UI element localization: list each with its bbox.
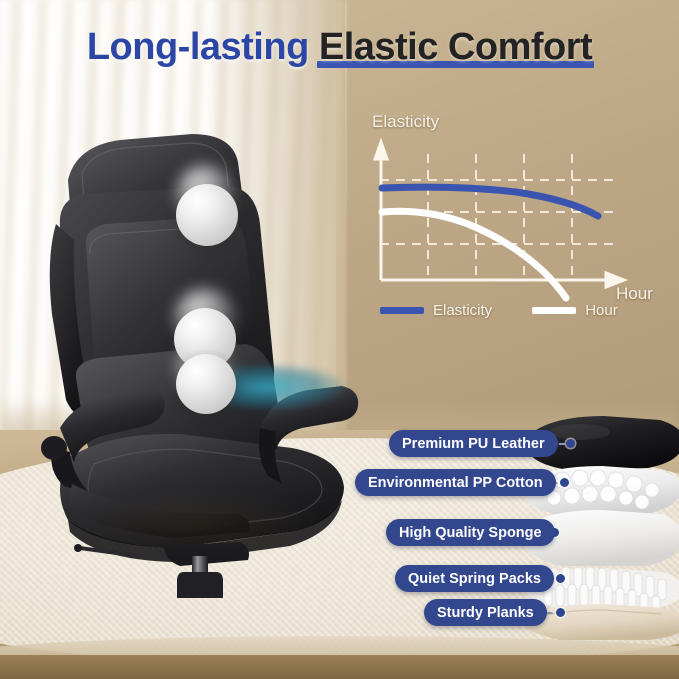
callout-sturdy-planks[interactable]: Sturdy Planks [424, 599, 547, 626]
callout-high-quality-sponge[interactable]: High Quality Sponge [386, 519, 555, 546]
page-title: Long-lasting Elastic Comfort [0, 26, 679, 69]
callout-group: Premium PU Leather Environmental PP Cott… [0, 0, 679, 679]
callout-anchor-dot [560, 478, 569, 487]
callout-quiet-spring-packs[interactable]: Quiet Spring Packs [395, 565, 554, 592]
callout-anchor-dot [556, 574, 565, 583]
callout-premium-pu-leather[interactable]: Premium PU Leather [389, 430, 558, 457]
product-marketing-image: Long-lasting Elastic Comfort [0, 0, 679, 679]
title-part-two: Elastic Comfort [319, 26, 592, 69]
callout-environmental-pp-cotton[interactable]: Environmental PP Cotton [355, 469, 556, 496]
callout-anchor-dot [566, 439, 575, 448]
callout-anchor-dot [556, 608, 565, 617]
title-part-one: Long-lasting [87, 26, 319, 68]
